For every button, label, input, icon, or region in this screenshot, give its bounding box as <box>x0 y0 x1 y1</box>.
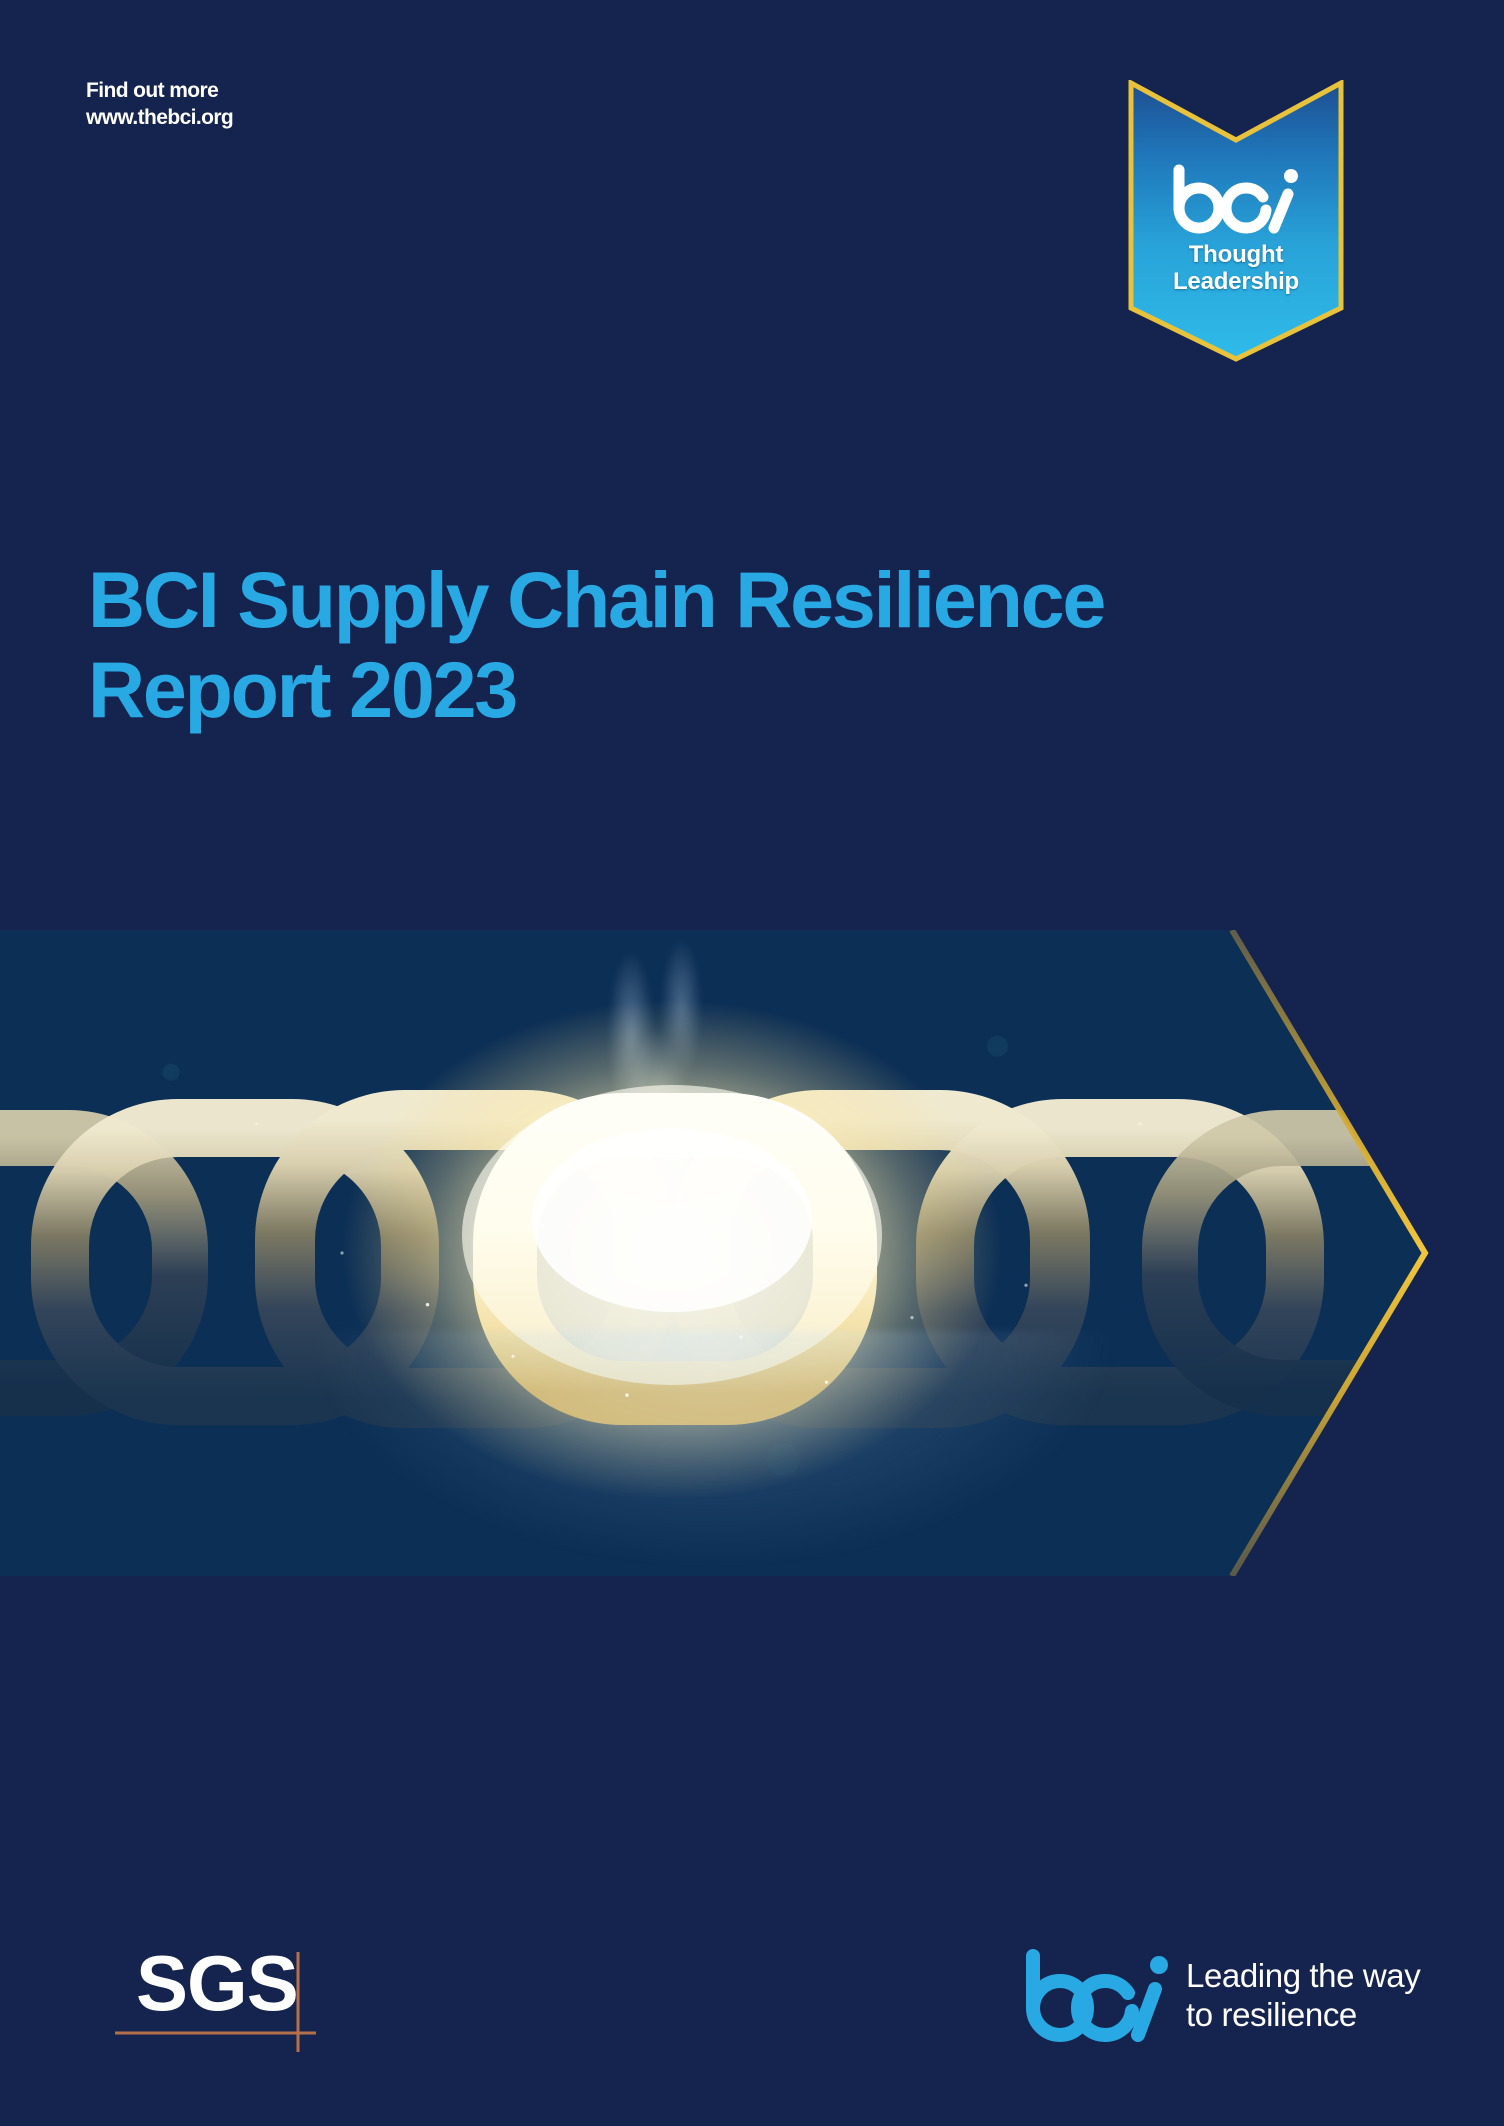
badge-title: Thought Leadership <box>1173 242 1299 296</box>
bci-tagline: Leading the way to resilience <box>1186 1957 1420 2035</box>
sgs-rule-icon <box>94 1944 316 2056</box>
badge-title-line2: Leadership <box>1173 269 1299 296</box>
badge-title-line1: Thought <box>1173 242 1299 269</box>
report-cover-page: Find out more www.thebci.org <box>0 0 1504 2126</box>
sgs-logo: SGS <box>136 1944 316 2056</box>
hero-chain-image <box>0 930 1425 1576</box>
find-out-more-block: Find out more www.thebci.org <box>86 78 233 132</box>
page-title-line2: Report 2023 <box>88 645 1288 735</box>
thought-leadership-badge: Thought Leadership <box>1128 80 1344 362</box>
bci-logo-icon <box>1022 1948 1170 2044</box>
bci-website-url[interactable]: www.thebci.org <box>86 105 233 132</box>
bci-tagline-line2: to resilience <box>1186 1996 1420 2035</box>
bci-logo-icon <box>1170 164 1302 234</box>
page-title-line1: BCI Supply Chain Resilience <box>88 555 1104 644</box>
find-out-more-label: Find out more <box>86 78 233 105</box>
hero-particles <box>0 930 1425 1576</box>
bci-tagline-line1: Leading the way <box>1186 1957 1420 1996</box>
bci-footer-logo: Leading the way to resilience <box>1022 1948 1420 2044</box>
page-title: BCI Supply Chain Resilience Report 2023 <box>88 555 1288 735</box>
